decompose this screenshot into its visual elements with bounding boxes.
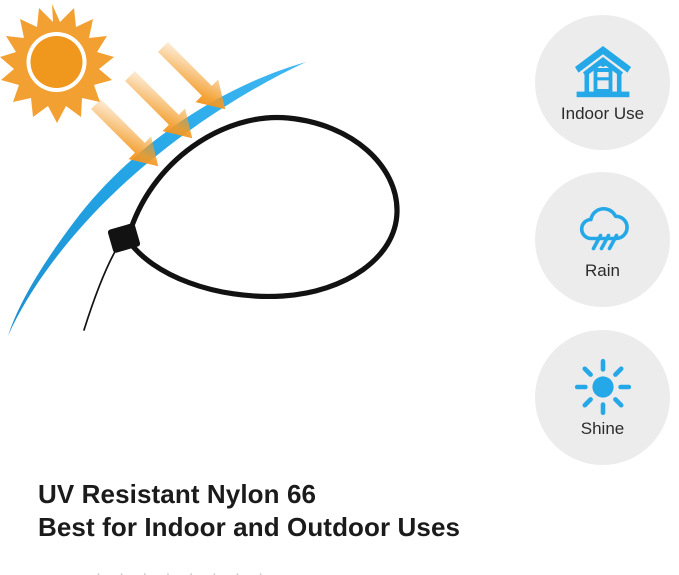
clipped-bottom-text: · · · · · · · · (96, 566, 456, 575)
badge-indoor-use[interactable]: Indoor Use (535, 15, 670, 150)
house-icon (571, 42, 635, 102)
badge-rain[interactable]: Rain (535, 172, 670, 307)
cable-tie-loop (84, 117, 397, 330)
badge-label: Rain (585, 261, 620, 281)
badge-label: Shine (581, 419, 624, 439)
product-feature-graphic: UV Resistant Nylon 66 Best for Indoor an… (0, 0, 679, 575)
feature-badge-column: Indoor Use Rain (535, 15, 671, 475)
sun-icon (571, 357, 635, 417)
headline-line-2: Best for Indoor and Outdoor Uses (38, 511, 478, 544)
headline-line-1: UV Resistant Nylon 66 (38, 478, 478, 511)
badge-shine[interactable]: Shine (535, 330, 670, 465)
uv-resistance-illustration (0, 0, 470, 470)
headline-block: UV Resistant Nylon 66 Best for Indoor an… (38, 478, 478, 544)
badge-label: Indoor Use (561, 104, 644, 124)
rain-cloud-icon (571, 199, 635, 259)
